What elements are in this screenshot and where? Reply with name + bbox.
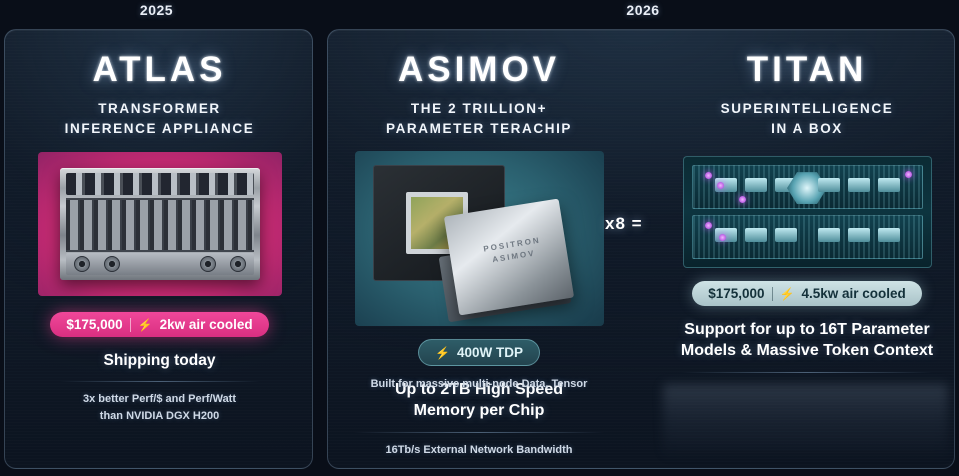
indicator-dot bbox=[717, 182, 724, 189]
rack-bay bbox=[878, 178, 900, 192]
product-tagline-asimov: THE 2 TRILLION+ PARAMETER TERACHIP bbox=[386, 99, 572, 138]
titan-rack-unit bbox=[692, 215, 923, 259]
multiplier-label: x8 = bbox=[605, 214, 643, 234]
titan-rack-unit bbox=[692, 165, 923, 209]
asimov-spec-badge: ⚡ 400W TDP bbox=[418, 339, 540, 366]
chassis-fan-icon bbox=[104, 256, 120, 272]
rack-bay bbox=[745, 178, 767, 192]
rack-bay bbox=[715, 228, 737, 242]
chassis-fan-icon bbox=[74, 256, 90, 272]
tagline-line-2: IN A BOX bbox=[721, 119, 894, 139]
product-panel-asimov: ASIMOV THE 2 TRILLION+ PARAMETER TERACHI… bbox=[334, 30, 624, 468]
tagline-line-1: SUPERINTELLIGENCE bbox=[721, 99, 894, 119]
badge-price: $175,000 bbox=[708, 286, 764, 301]
atlas-server-image bbox=[38, 152, 282, 296]
badge-power: 400W TDP bbox=[457, 345, 523, 360]
titan-spec-badge: $175,000 ⚡ 4.5kw air cooled bbox=[692, 281, 922, 306]
card-2026: ASIMOV THE 2 TRILLION+ PARAMETER TERACHI… bbox=[327, 29, 955, 469]
chassis-fan-icon bbox=[200, 256, 216, 272]
tagline-line-1: TRANSFORMER bbox=[65, 99, 255, 119]
lightning-bolt-icon: ⚡ bbox=[138, 318, 153, 332]
atlas-divider bbox=[60, 381, 260, 382]
asimov-subtext: 16Tb/s External Network Bandwidth bbox=[385, 442, 572, 459]
year-label-2025: 2025 bbox=[0, 2, 313, 18]
rack-bay bbox=[745, 228, 767, 242]
badge-power: 2kw air cooled bbox=[160, 317, 253, 332]
atlas-subtext: 3x better Perf/$ and Perf/Watt than NVID… bbox=[83, 391, 236, 424]
indicator-dot bbox=[905, 171, 912, 178]
titan-divider bbox=[682, 372, 932, 373]
rack-bay bbox=[878, 228, 900, 242]
subtext-line-2: than NVIDIA DGX H200 bbox=[83, 408, 236, 425]
indicator-dot bbox=[705, 222, 712, 229]
chassis-top-bays bbox=[66, 173, 254, 195]
product-name-titan: TITAN bbox=[747, 52, 867, 87]
headline-line-2: Memory per Chip bbox=[395, 401, 563, 422]
tagline-line-2: INFERENCE APPLIANCE bbox=[65, 119, 255, 139]
subtext-line-1: 3x better Perf/$ and Perf/Watt bbox=[83, 391, 236, 408]
card-2025: ATLAS TRANSFORMER INFERENCE APPLIANCE $1… bbox=[4, 29, 313, 469]
atlas-spec-badge: $175,000 ⚡ 2kw air cooled bbox=[50, 312, 268, 337]
rack-bay bbox=[775, 228, 797, 242]
product-panel-atlas: ATLAS TRANSFORMER INFERENCE APPLIANCE $1… bbox=[5, 30, 313, 468]
indicator-dot bbox=[739, 196, 746, 203]
chassis-fan-icon bbox=[230, 256, 246, 272]
product-tagline-atlas: TRANSFORMER INFERENCE APPLIANCE bbox=[65, 99, 255, 138]
titan-headline: Support for up to 16T Parameter Models &… bbox=[681, 320, 933, 362]
badge-divider bbox=[130, 318, 131, 332]
product-name-asimov: ASIMOV bbox=[398, 52, 560, 87]
year-label-2026: 2026 bbox=[327, 2, 959, 18]
server-chassis bbox=[60, 168, 260, 280]
slide-canvas: 2025 2026 ATLAS TRANSFORMER INFERENCE AP… bbox=[0, 0, 959, 476]
badge-price: $175,000 bbox=[66, 317, 122, 332]
asimov-chip-image: POSITRON ASIMOV bbox=[355, 151, 604, 326]
headline-line-2: Models & Massive Token Context bbox=[681, 341, 933, 362]
badge-divider bbox=[772, 287, 773, 301]
atlas-headline: Shipping today bbox=[104, 351, 216, 371]
lightning-bolt-icon: ⚡ bbox=[780, 287, 795, 301]
chip-heat-spreader bbox=[443, 199, 573, 316]
tagline-line-1: THE 2 TRILLION+ bbox=[386, 99, 572, 119]
indicator-dot bbox=[705, 172, 712, 179]
lightning-bolt-icon: ⚡ bbox=[435, 346, 450, 360]
badge-power: 4.5kw air cooled bbox=[801, 286, 905, 301]
rack-bay bbox=[818, 228, 840, 242]
product-tagline-titan: SUPERINTELLIGENCE IN A BOX bbox=[721, 99, 894, 138]
product-panel-titan: TITAN SUPERINTELLIGENCE IN A BOX bbox=[661, 30, 953, 468]
rack-bay bbox=[818, 178, 840, 192]
headline-line-1: Support for up to 16T Parameter bbox=[681, 320, 933, 341]
tagline-line-2: PARAMETER TERACHIP bbox=[386, 119, 572, 139]
indicator-dot bbox=[719, 234, 726, 241]
chassis-pcie-slots bbox=[66, 198, 254, 252]
asimov-divider bbox=[354, 432, 604, 433]
product-name-atlas: ATLAS bbox=[92, 52, 226, 87]
titan-rack-image bbox=[683, 156, 932, 268]
rack-bay bbox=[848, 228, 870, 242]
chassis-io-panel bbox=[66, 253, 254, 275]
titan-subtext-truncated: Built for massive multi-node Data, Tenso… bbox=[333, 376, 625, 393]
rack-bay bbox=[848, 178, 870, 192]
